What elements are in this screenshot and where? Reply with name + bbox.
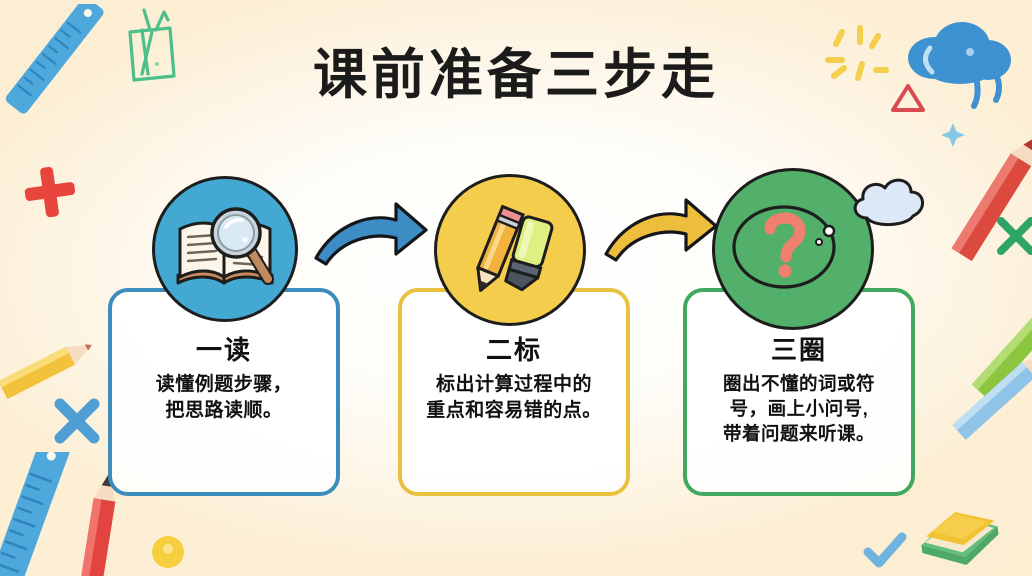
arrow-step2-to-step3 <box>602 190 720 271</box>
step-description: 圈出不懂的词或符 号，画上小问号, 带着问题来听课。 <box>697 372 901 447</box>
x-mark-icon <box>48 392 106 455</box>
question-mark-thought-icon <box>726 187 860 311</box>
plus-sign-icon <box>18 160 82 229</box>
arrow-step1-to-step2 <box>312 196 430 275</box>
x-mark-icon <box>990 210 1032 267</box>
step-heading: 一读 <box>112 330 336 367</box>
step-description-line: 把思路读顺。 <box>122 398 326 424</box>
pencil-highlighter-icon <box>458 198 562 302</box>
step-badge-read[interactable] <box>152 176 298 322</box>
step-description: 标出计算过程中的 重点和容易错的点。 <box>412 372 616 424</box>
thought-cloud-icon <box>845 172 929 239</box>
dot-icon <box>148 532 188 576</box>
book-icon <box>902 488 1012 576</box>
step-description: 读懂例题步骤， 把思路读顺。 <box>122 372 326 424</box>
step-description-line: 圈出不懂的词或符 <box>697 372 901 397</box>
step-description-line: 标出计算过程中的 <box>412 372 616 398</box>
step-description-line: 带着问题来听课。 <box>697 422 901 447</box>
step-heading: 二标 <box>402 330 626 367</box>
step-description-line: 号，画上小问号, <box>697 397 901 422</box>
pencil-icon <box>952 336 1032 461</box>
step-description-line: 读懂例题步骤， <box>122 372 326 398</box>
slide-canvas: 课前准备三步走 一读 读懂例题步骤， 把思路读顺。 二标 标出计算过程中的 重点… <box>0 0 1032 576</box>
open-book-magnifier-icon <box>172 203 278 295</box>
step-heading: 三圈 <box>687 330 911 367</box>
check-mark-icon <box>862 530 908 576</box>
page-title: 课前准备三步走 <box>0 46 1032 105</box>
step-badge-mark[interactable] <box>434 174 586 326</box>
step-description-line: 重点和容易错的点。 <box>412 398 616 424</box>
